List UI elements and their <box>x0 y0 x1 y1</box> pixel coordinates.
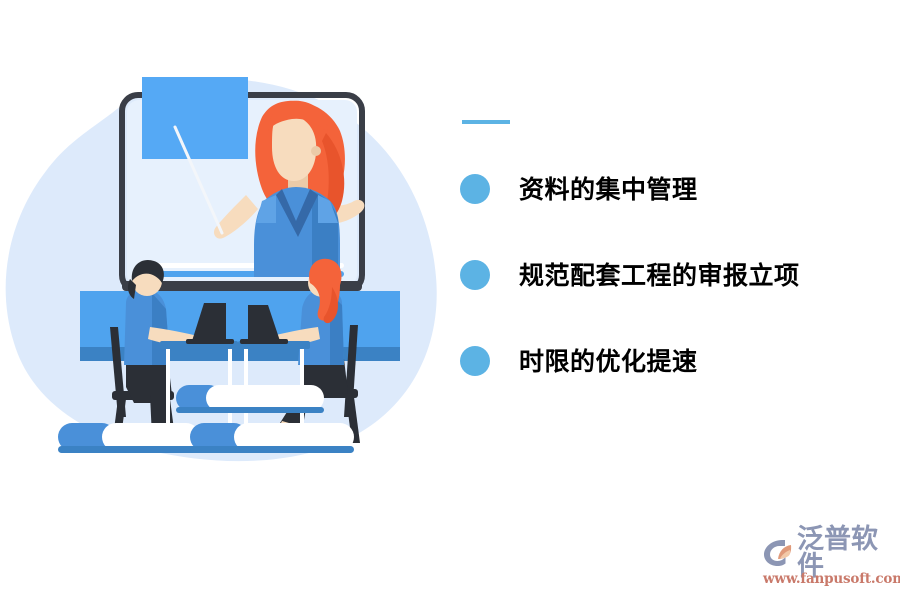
laptop-right-base <box>240 339 288 344</box>
brand-url: www.fanpusoft.com <box>762 571 897 587</box>
book-lower-right-edge <box>190 446 354 453</box>
feature-item-1: 资料的集中管理 <box>460 160 880 218</box>
feature-label-1: 资料的集中管理 <box>519 177 698 202</box>
fanpu-logo-mark-icon <box>762 538 794 568</box>
bullet-dot-icon <box>460 174 490 204</box>
bullet-dot-icon <box>460 260 490 290</box>
laptop-left-base <box>186 339 234 344</box>
online-classroom-illustration <box>0 55 460 465</box>
desk-left-leg-1 <box>166 349 170 435</box>
feature-item-3: 时限的优化提速 <box>460 332 880 390</box>
brand-row: 泛普软件 <box>762 536 897 570</box>
accent-rule <box>462 120 510 124</box>
feature-label-2: 规范配套工程的审报立项 <box>519 263 800 288</box>
feature-label-3: 时限的优化提速 <box>519 349 698 374</box>
whiteboard-board <box>142 77 248 159</box>
book-lower-left-edge <box>58 446 200 453</box>
brand-logo: 泛普软件 www.fanpusoft.com <box>762 536 897 588</box>
feature-item-2: 规范配套工程的审报立项 <box>460 246 880 304</box>
bullet-dot-icon <box>460 346 490 376</box>
teacher-ear <box>311 146 321 156</box>
feature-list: 资料的集中管理 规范配套工程的审报立项 时限的优化提速 <box>460 120 880 390</box>
book-upper-edge <box>176 407 324 413</box>
